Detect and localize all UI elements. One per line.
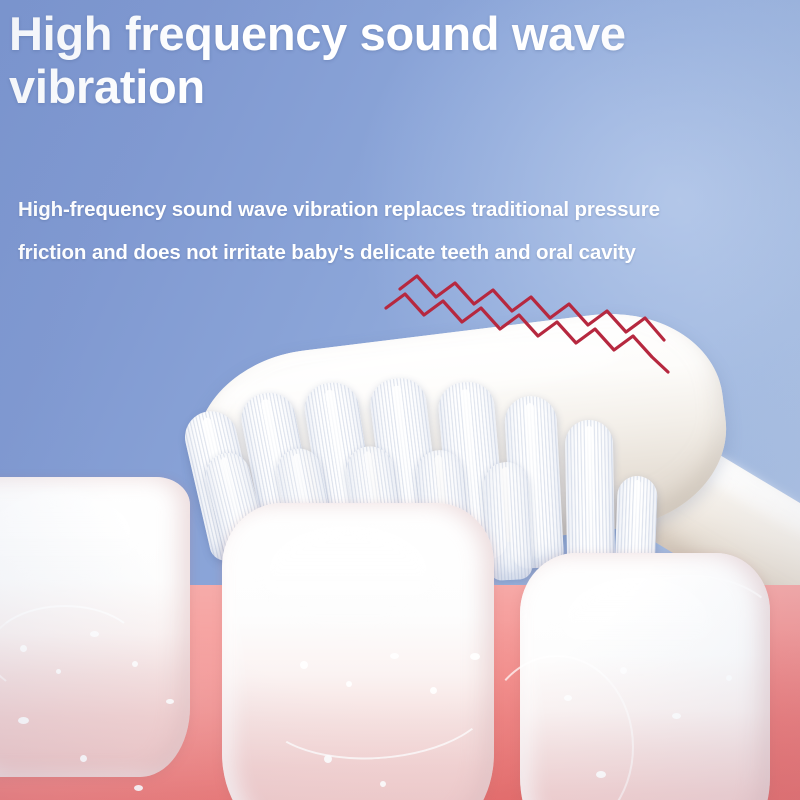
- water-droplet: [18, 717, 29, 724]
- water-droplet: [470, 653, 480, 660]
- molar-tooth-2-highlight: [260, 525, 436, 633]
- page-title: High frequency sound wave vibration: [9, 8, 791, 113]
- subtitle-line-1: High-frequency sound wave vibration repl…: [18, 198, 788, 222]
- water-droplet: [80, 755, 87, 762]
- water-droplet: [380, 781, 386, 787]
- water-droplet: [134, 785, 143, 791]
- water-droplet: [166, 699, 174, 704]
- teeth-and-gums-illustration: [0, 455, 800, 800]
- water-splash-arc: [600, 575, 784, 699]
- water-droplet: [672, 713, 681, 719]
- subtitle-line-2: friction and does not irritate baby's de…: [18, 241, 788, 265]
- promo-banner: High frequency sound wave vibration High…: [0, 0, 800, 800]
